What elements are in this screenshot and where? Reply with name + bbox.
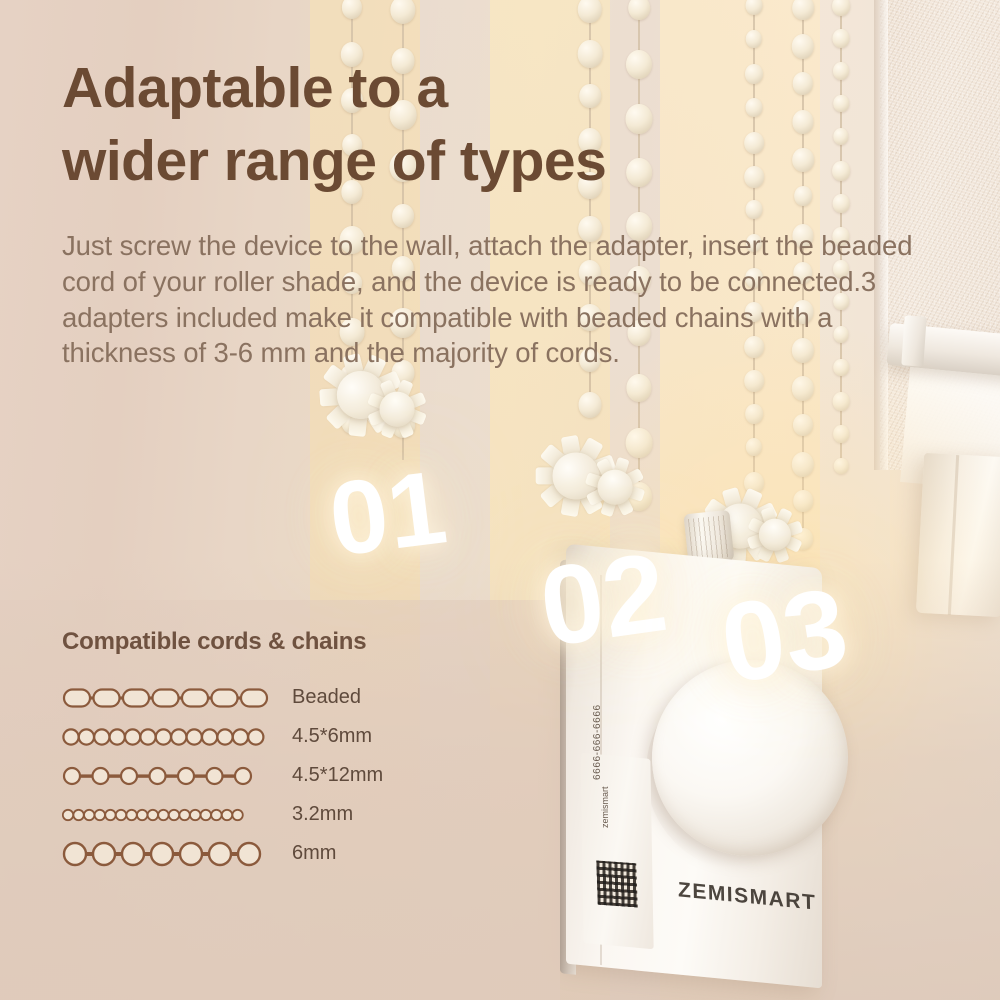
- oval-link-chain-icon: [62, 683, 277, 713]
- device-brandmark: zemismart: [600, 786, 610, 828]
- bead: [628, 0, 650, 20]
- compatibility-row: Beaded: [62, 678, 482, 717]
- page-title: Adaptable to a wider range of types: [62, 52, 762, 198]
- bead: [745, 404, 763, 424]
- compatibility-label: 3.2mm: [292, 803, 353, 826]
- compatibility-label: 4.5*12mm: [292, 764, 383, 787]
- compatibility-row: 4.5*6mm: [62, 717, 482, 756]
- bead: [792, 148, 814, 172]
- bead: [832, 0, 850, 16]
- description-paragraph: Just screw the device to the wall, attac…: [62, 228, 922, 371]
- compatibility-title: Compatible cords & chains: [62, 628, 482, 656]
- qr-code-icon: [596, 861, 638, 908]
- compatibility-row: 4.5*12mm: [62, 756, 482, 795]
- compatibility-label: Beaded: [292, 686, 361, 709]
- bead: [746, 0, 763, 15]
- compatibility-label: 4.5*6mm: [292, 725, 372, 748]
- bead: [578, 0, 602, 23]
- bead: [744, 370, 764, 392]
- compatibility-row: 3.2mm: [62, 795, 482, 834]
- bead: [832, 29, 849, 48]
- compatibility-row: 6mm: [62, 834, 482, 873]
- step-number-02: 02: [534, 536, 673, 664]
- compatibility-list: Compatible cords & chains Beaded4.5*6mm4…: [62, 628, 482, 873]
- bead: [793, 490, 813, 512]
- bead: [579, 392, 602, 418]
- bead: [392, 204, 414, 228]
- bead: [834, 458, 849, 474]
- bead: [833, 128, 848, 145]
- headline-line-1: Adaptable to a: [62, 56, 448, 120]
- gear-core: [374, 386, 419, 431]
- bead: [792, 110, 813, 134]
- bead: [746, 438, 762, 456]
- bead: [390, 0, 415, 24]
- bead: [833, 392, 850, 411]
- bead: [626, 374, 651, 402]
- bead: [746, 30, 762, 48]
- bead: [792, 376, 814, 401]
- bead: [833, 425, 849, 443]
- product-feature-image: 6666-666-6666 zemismart ZEMISMART Adapta…: [0, 0, 1000, 1000]
- compatibility-label: 6mm: [292, 842, 336, 865]
- step-number-01: 01: [324, 455, 451, 572]
- bead: [833, 62, 849, 80]
- bead: [794, 186, 812, 206]
- step-number-03: 03: [714, 571, 855, 701]
- device-serial-number: 6666-666-6666: [592, 660, 603, 780]
- device-label-plate: [580, 753, 653, 949]
- bead: [833, 95, 849, 112]
- spaced-bead-rod-chain-icon: [62, 761, 277, 791]
- bead: [833, 194, 850, 213]
- bead: [746, 200, 763, 219]
- bead: [792, 452, 814, 477]
- fine-bead-chain-icon: [62, 800, 277, 830]
- headline-line-2: wider range of types: [62, 125, 762, 198]
- bead: [626, 428, 653, 458]
- bead: [792, 34, 814, 59]
- bead: [832, 161, 850, 181]
- bead: [793, 414, 813, 436]
- bead: [792, 0, 814, 20]
- bead: [793, 72, 813, 95]
- round-bead-chain-icon: [62, 722, 277, 752]
- large-bead-rod-chain-icon: [62, 839, 277, 869]
- bead: [342, 0, 362, 19]
